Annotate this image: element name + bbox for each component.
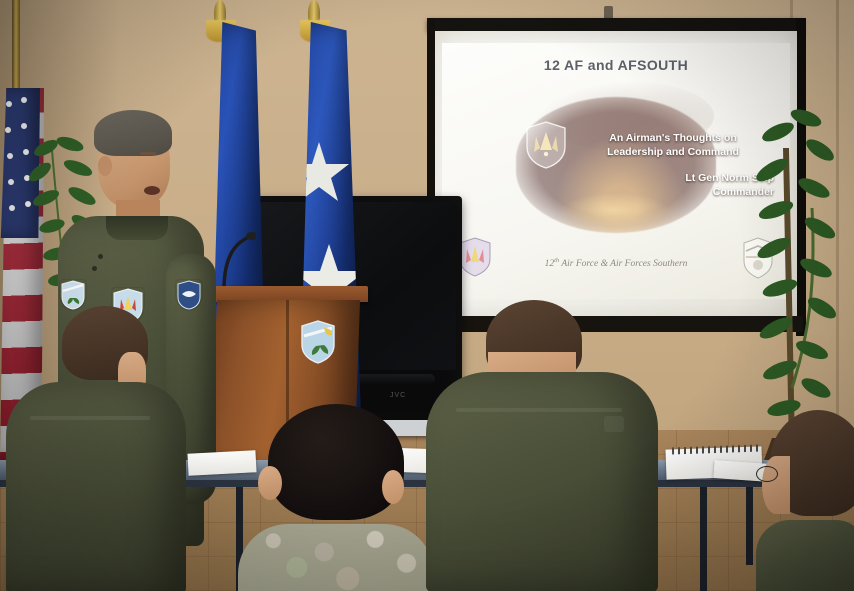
plant-right [746,88,854,460]
audience-cf-hair [268,404,404,520]
audience-left-shoulder-seam [30,416,150,420]
microphone-icon [222,228,256,294]
speaker-rank-pip [92,266,97,271]
audience-right-face [762,456,790,514]
audience-left-flight-suit [6,382,186,591]
table-leg [700,487,707,591]
audience-center-pen-pocket [604,416,624,432]
us-flag-pole [12,0,20,96]
presentation-photo: 12 AF and AFSOUTH An Airman's Thoughts o… [0,0,854,591]
twelfth-air-force-emblem-icon [458,237,492,277]
airman-seated-right [756,410,854,591]
airman-seated-center-foreground [238,404,434,591]
speaker-collar [106,216,168,240]
table-leg [746,487,753,565]
slide-footer: 12th Air Force & Air Forces Southern [442,257,790,269]
tv-brand-label: JVC [390,392,406,399]
lectern-crest-icon [300,320,336,364]
airman-seated-left [6,306,186,591]
slide-footer-prefix: 12 [545,259,555,269]
audience-cf-abu-uniform [238,524,434,591]
audience-right-flight-suit [756,520,854,591]
audience-cf-ear [382,470,404,504]
usaf-seal-icon [524,120,568,170]
speaker-eye [140,152,156,155]
presentation-slide: 12 AF and AFSOUTH An Airman's Thoughts o… [442,43,790,299]
audience-center-shoulder-seam [456,408,622,412]
audience-cf-ear [258,466,282,500]
slide-speaker-name: Lt Gen Norm Seip [566,171,774,185]
audience-center-flight-suit [426,372,658,591]
speaker-ear [98,156,112,176]
projection-screen-case [427,18,803,31]
slide-title: 12 AF and AFSOUTH [442,57,790,73]
ficus-tree-icon [746,88,854,460]
airman-seated-center [426,300,658,591]
speaker-mouth [144,186,160,195]
slide-speaker-title: Commander [566,185,774,199]
speaker-rank-pip [98,254,103,259]
slide-footer-rest: Air Force & Air Forces Southern [559,259,687,269]
eyeglasses-icon [756,466,778,482]
speaker-hair [94,110,172,156]
lectern-top [198,286,368,302]
